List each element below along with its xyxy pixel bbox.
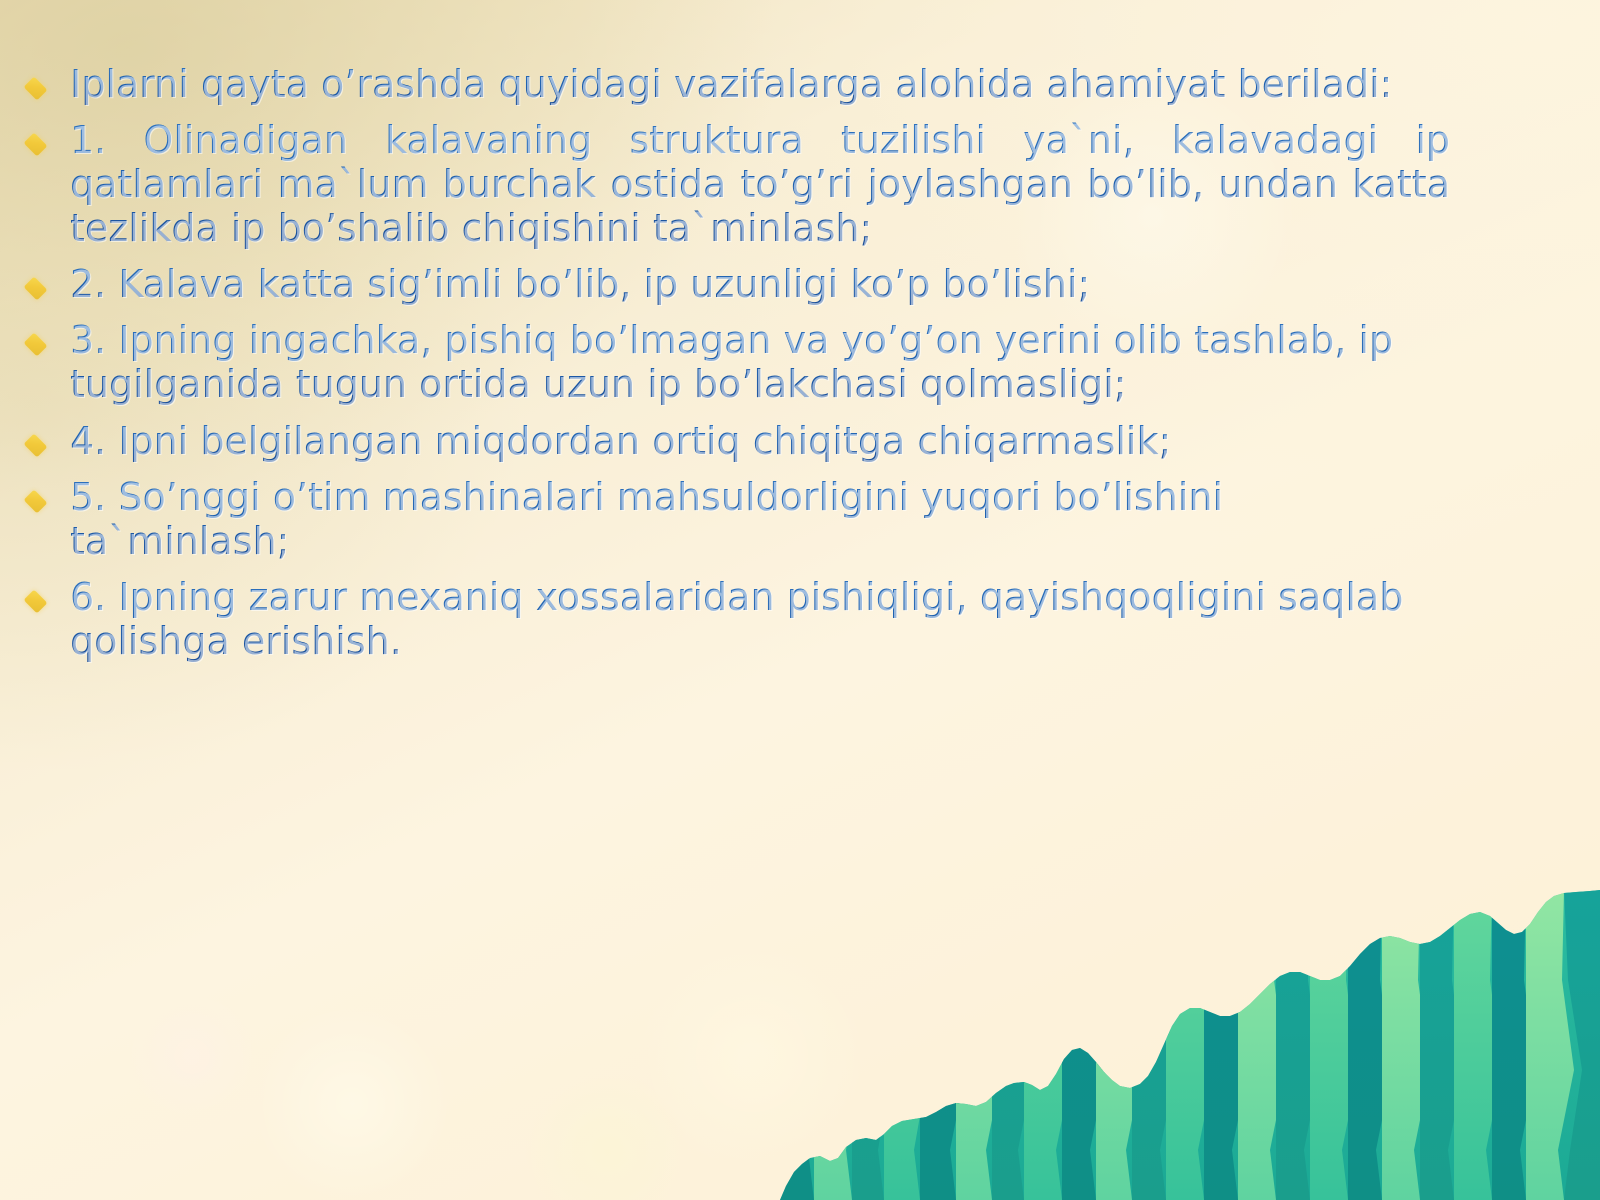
decorative-mountain-graphic xyxy=(780,890,1600,1200)
list-item[interactable]: 6. Ipning zarur mexaniq xossalaridan pis… xyxy=(0,575,1490,663)
list-item-text: Iplarni qayta o’rashda quyidagi vazifala… xyxy=(70,62,1490,106)
list-item-text: 3. Ipning ingachka, pishiq bo’lmagan va … xyxy=(70,318,1490,406)
list-item-text: 4. Ipni belgilangan miqdordan ortiq chiq… xyxy=(70,419,1490,463)
list-item[interactable]: 4. Ipni belgilangan miqdordan ortiq chiq… xyxy=(0,419,1490,463)
list-item-text: 1. Olinadigan kalavaning struktura tuzil… xyxy=(70,118,1490,250)
diamond-bullet-icon xyxy=(0,62,70,98)
list-item[interactable]: 1. Olinadigan kalavaning struktura tuzil… xyxy=(0,118,1490,250)
list-item-text: 6. Ipning zarur mexaniq xossalaridan pis… xyxy=(70,575,1490,663)
diamond-bullet-icon xyxy=(0,118,70,154)
diamond-bullet-icon xyxy=(0,318,70,354)
list-item[interactable]: 2. Kalava katta sig’imli bo’lib, ip uzun… xyxy=(0,262,1490,306)
diamond-bullet-icon xyxy=(0,262,70,298)
diamond-bullet-icon xyxy=(0,575,70,611)
list-item[interactable]: 5. So’nggi o’tim mashinalari mahsuldorli… xyxy=(0,475,1490,563)
diamond-bullet-icon xyxy=(0,419,70,455)
list-item-text: 5. So’nggi o’tim mashinalari mahsuldorli… xyxy=(70,475,1490,563)
list-item[interactable]: Iplarni qayta o’rashda quyidagi vazifala… xyxy=(0,62,1490,106)
list-item-text: 2. Kalava katta sig’imli bo’lib, ip uzun… xyxy=(70,262,1490,306)
slide-canvas: Iplarni qayta o’rashda quyidagi vazifala… xyxy=(0,0,1600,1200)
list-item[interactable]: 3. Ipning ingachka, pishiq bo’lmagan va … xyxy=(0,318,1490,406)
diamond-bullet-icon xyxy=(0,475,70,511)
mountain-stripes xyxy=(780,890,1600,1200)
bullet-list: Iplarni qayta o’rashda quyidagi vazifala… xyxy=(0,0,1490,675)
